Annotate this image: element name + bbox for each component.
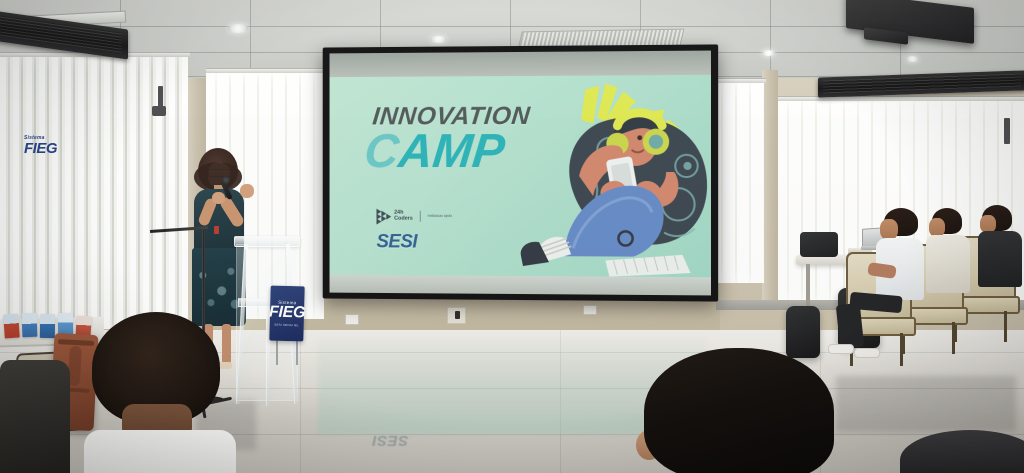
sesi-logo: SESI bbox=[376, 231, 417, 253]
student-shoe-right bbox=[854, 348, 880, 358]
laptop-bag-on-table bbox=[800, 232, 838, 257]
screen-top-shadow bbox=[330, 51, 711, 78]
screen-bottom-shadow bbox=[330, 275, 711, 296]
coders-line2: Coders bbox=[394, 216, 413, 222]
acrylic-podium: Sistema FIEG SESI SENAI IEL bbox=[232, 236, 298, 411]
foreground-right-hair bbox=[644, 348, 834, 473]
student-3 bbox=[972, 205, 1024, 335]
sign-stem-right bbox=[296, 339, 298, 365]
presenter-raised-hand bbox=[240, 184, 254, 198]
fieg-sign: Sistema FIEG SESI SENAI IEL bbox=[269, 286, 304, 342]
coders-line1: 24h bbox=[394, 209, 403, 215]
ceiling-light-4 bbox=[762, 50, 775, 56]
student-arm bbox=[867, 262, 897, 279]
projection-screen[interactable]: INNOVATION CAMP 24hCoders realizacao apo… bbox=[323, 44, 718, 301]
student-face bbox=[880, 219, 898, 240]
wall-outlet-right[interactable] bbox=[583, 305, 597, 315]
student-leg bbox=[836, 303, 864, 349]
foreground-audience-right bbox=[636, 348, 856, 473]
ceiling-light-1 bbox=[228, 24, 248, 33]
screen-surface: INNOVATION CAMP 24hCoders realizacao apo… bbox=[330, 51, 711, 296]
slide-headline-bottom: CAMP bbox=[362, 128, 507, 176]
wall-outlet-left[interactable] bbox=[345, 314, 359, 325]
sign-stem-left bbox=[276, 339, 278, 365]
partner-logo-label: realizacao apoio bbox=[428, 214, 452, 218]
chair-reflection bbox=[836, 376, 1016, 432]
wall-network-jack[interactable] bbox=[447, 307, 466, 324]
microphone-head-icon bbox=[222, 176, 230, 184]
camp-letter-c: C bbox=[362, 125, 402, 178]
foreground-chair[interactable] bbox=[0, 360, 70, 473]
coders-logo: 24hCoders realizacao apoio bbox=[376, 209, 452, 223]
fieg-sign-top-label: Sistema bbox=[278, 300, 296, 305]
camp-letters-amp: AMP bbox=[396, 125, 507, 178]
presenter-badge bbox=[214, 226, 219, 234]
coders-logo-label: 24hCoders bbox=[394, 209, 413, 222]
presenter-mic-hand bbox=[212, 192, 225, 204]
auditorium-photo: SESI bbox=[0, 0, 1024, 473]
ceiling-light-2 bbox=[430, 36, 447, 43]
ceiling-light-5 bbox=[906, 56, 919, 62]
wall-bracket-left bbox=[158, 86, 163, 108]
wall-pillar-right bbox=[762, 70, 778, 310]
shirt-logo-text: Sistema FIEG bbox=[24, 136, 57, 156]
brochure-3 bbox=[40, 314, 55, 338]
student-torso bbox=[978, 231, 1022, 287]
coders-triangle-icon bbox=[376, 209, 390, 223]
window-blinds-right1[interactable] bbox=[712, 83, 764, 283]
foreground-left-shirt bbox=[84, 430, 236, 473]
fieg-sign-main-label: FIEG bbox=[269, 305, 306, 322]
foreground-audience-left bbox=[78, 312, 238, 473]
wall-bracket-right bbox=[1004, 118, 1010, 144]
shirt-logo-line2: FIEG bbox=[24, 141, 57, 156]
slide-innovation-camp: INNOVATION CAMP 24hCoders realizacao apo… bbox=[330, 75, 711, 277]
brochure-1 bbox=[3, 314, 20, 339]
slide-illustration bbox=[513, 79, 711, 277]
student-1 bbox=[872, 208, 942, 368]
sesi-reflection-text: SESI bbox=[372, 432, 408, 449]
brochure-2 bbox=[22, 313, 38, 338]
fieg-sign-bottom-label: SESI SENAI IEL bbox=[274, 323, 299, 328]
logo-divider bbox=[420, 210, 421, 221]
wall-speaker-mount-left bbox=[152, 106, 166, 116]
